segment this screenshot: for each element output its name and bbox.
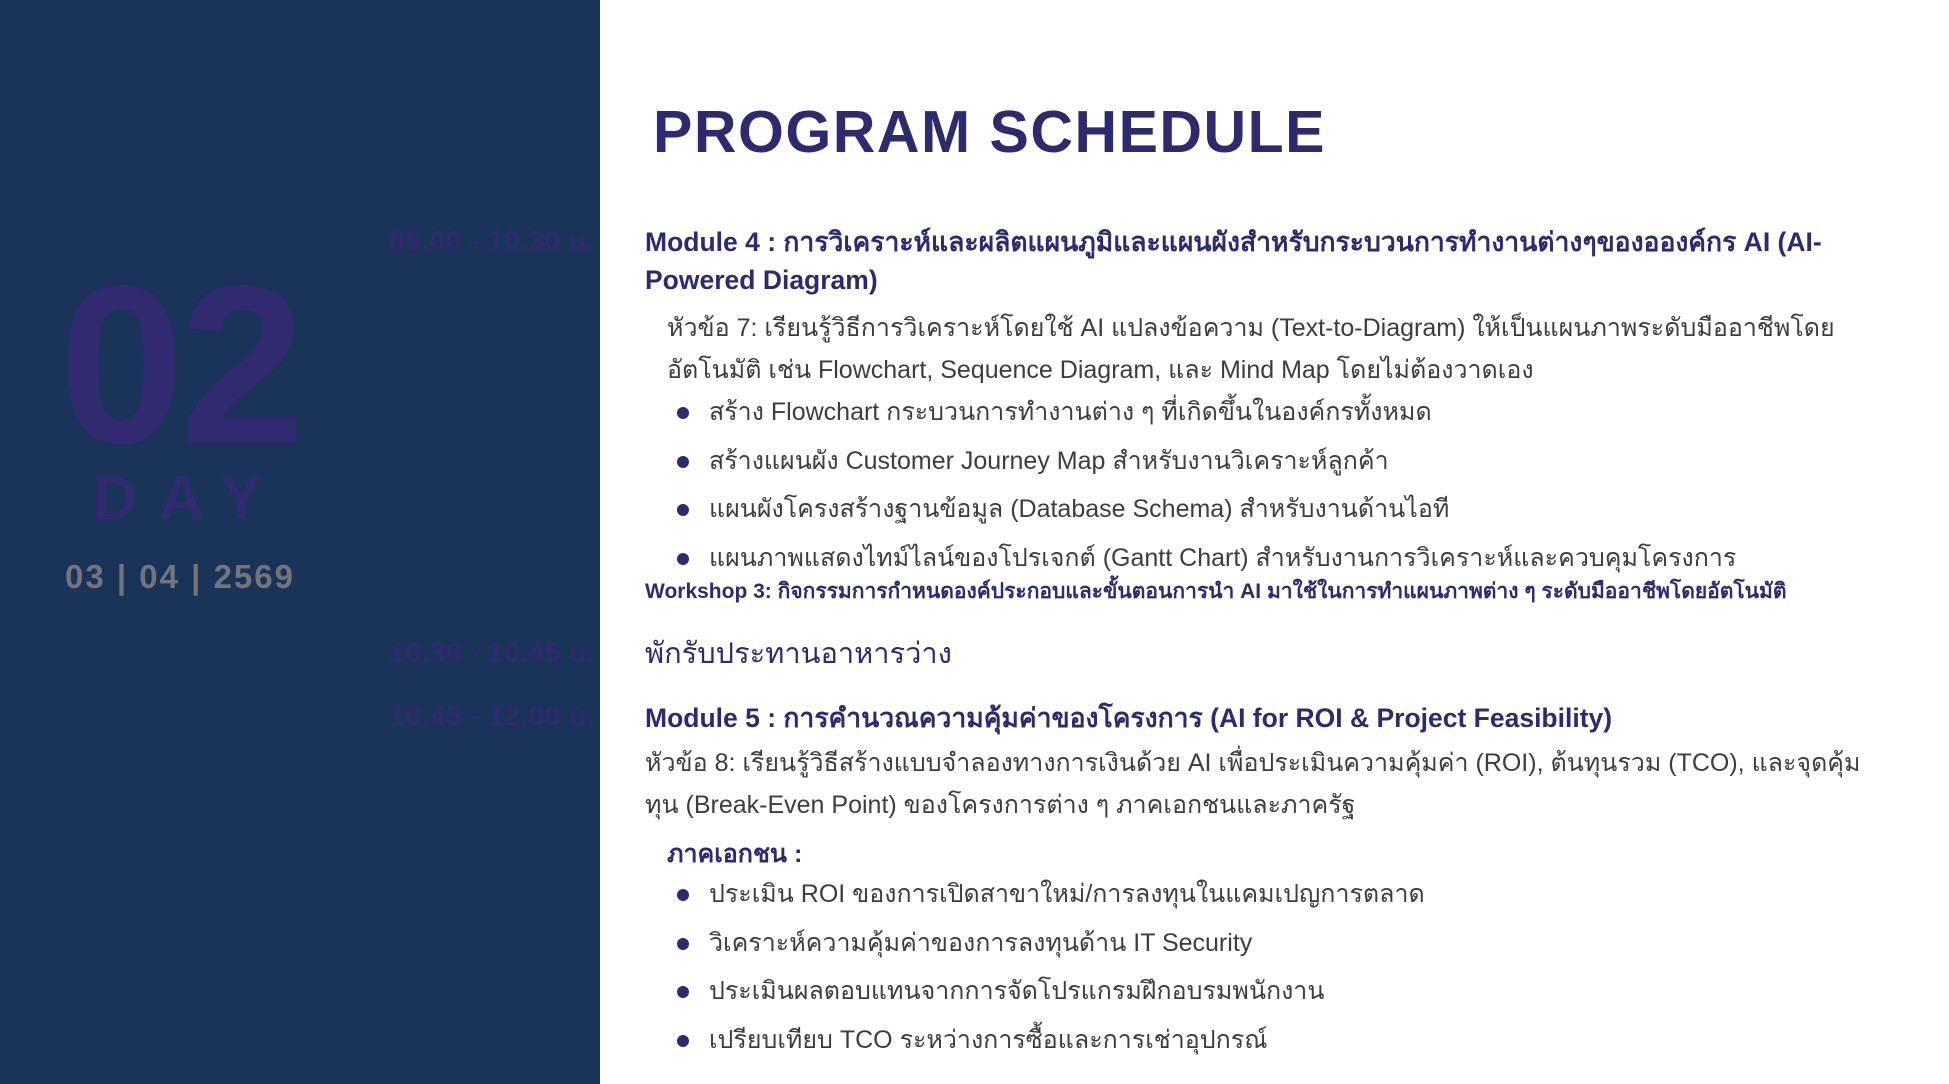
day-date: 03 | 04 | 2569 xyxy=(0,560,360,593)
module-4-bullet-list: สร้าง Flowchart กระบวนการทำงานต่าง ๆ ที่… xyxy=(667,396,1907,590)
list-item: วิเคราะห์ความคุ้มค่าของการลงทุนด้าน IT S… xyxy=(667,927,1907,960)
page-title: PROGRAM SCHEDULE xyxy=(653,103,1326,162)
day-number: 02 xyxy=(0,268,360,462)
module-4-paragraph: หัวข้อ 7: เรียนรู้วิธีการวิเคราะห์โดยใช้… xyxy=(667,308,1897,391)
list-item: สร้าง Flowchart กระบวนการทำงานต่าง ๆ ที่… xyxy=(667,396,1907,429)
workshop-3-line: Workshop 3: กิจกรรมการกำหนดองค์ประกอบและ… xyxy=(645,578,1787,605)
list-item: ประเมิน ROI ของการเปิดสาขาใหม่/การลงทุนใ… xyxy=(667,878,1907,911)
schedule-content: PROGRAM SCHEDULE Module 4 : การวิเคราะห์… xyxy=(645,0,1935,1084)
list-item: แผนภาพแสดงไทม์ไลน์ของโปรเจกต์ (Gantt Cha… xyxy=(667,542,1907,575)
list-item: ประเมินผลตอบแทนจากการจัดโปรแกรมฝึกอบรมพน… xyxy=(667,975,1907,1008)
module-5-heading: Module 5 : การคำนวณความคุ้มค่าของโครงการ… xyxy=(645,700,1885,738)
list-item: แผนผังโครงสร้างฐานข้อมูล (Database Schem… xyxy=(667,493,1907,526)
private-sector-heading: ภาคเอกชน : xyxy=(667,838,802,871)
module-4-heading: Module 4 : การวิเคราะห์และผลิตแผนภูมิและ… xyxy=(645,224,1885,299)
break-label: พักรับประทานอาหารว่าง xyxy=(645,636,952,674)
module-5-bullet-list: ประเมิน ROI ของการเปิดสาขาใหม่/การลงทุนใ… xyxy=(667,878,1907,1072)
time-label-session-3: 10.45 - 12.00 u. xyxy=(175,700,595,732)
list-item: สร้างแผนผัง Customer Journey Map สำหรับง… xyxy=(667,445,1907,478)
module-5-paragraph: หัวข้อ 8: เรียนรู้วิธีสร้างแบบจำลองทางกา… xyxy=(645,743,1875,826)
left-day-panel: 02 DAY 03 | 04 | 2569 xyxy=(0,0,600,1084)
program-schedule-slide: 02 DAY 03 | 04 | 2569 09.00 - 10.30 u. 1… xyxy=(0,0,1949,1084)
list-item: เปรียบเทียบ TCO ระหว่างการซื้อและการเช่า… xyxy=(667,1024,1907,1057)
time-label-session-1: 09.00 - 10.30 u. xyxy=(175,225,595,257)
time-label-break: 10.30 - 10.45 u. xyxy=(175,637,595,669)
day-block: 02 DAY 03 | 04 | 2569 xyxy=(0,268,360,593)
